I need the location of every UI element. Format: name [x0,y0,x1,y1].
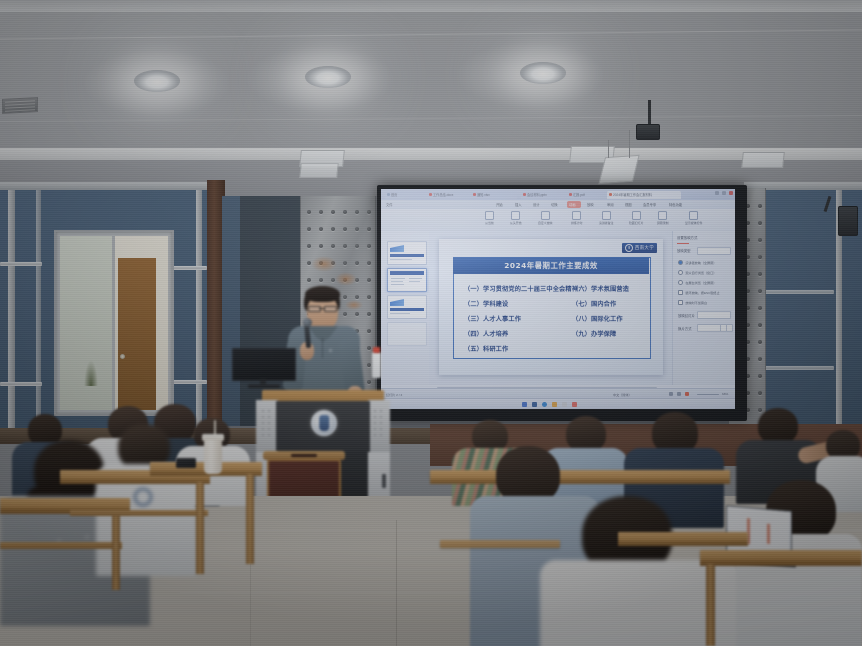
panel-stain [311,256,337,272]
option-label: 观众自行浏览（窗口） [685,270,716,275]
slide-title-text: 2024年暑期工作主要成效 [504,260,598,271]
ceiling-mount-arm [648,100,651,126]
tab-favicon-icon [569,193,572,196]
menu-item[interactable]: 会员专享 [643,202,656,207]
panel-perforation [758,221,762,225]
checkbox-icon[interactable] [678,300,683,305]
slide-item-left-4: （四）人才培养 [464,329,508,338]
tab-favicon-icon [473,193,476,196]
minimize-icon[interactable] [715,191,719,195]
chat-icon[interactable] [562,402,567,407]
task-pane-option[interactable]: 放映时不加旁白 [678,300,707,305]
tab-item[interactable]: 通知.xlsx [471,191,517,199]
task-pane-select[interactable] [697,247,731,255]
wall-divider [8,186,15,438]
paper-cup [202,434,224,474]
media-controls-icon [689,211,698,220]
ceiling-light-panel [299,163,339,178]
thumb-text-line [390,259,412,260]
panel-perforation [319,244,323,248]
menu-item[interactable]: 视图 [625,202,632,207]
current-slide[interactable]: 西南大学 2024年暑期工作主要成效 （一）学习贯彻党的二十届三中全会精神 （二… [439,239,663,375]
cup-body [204,440,222,474]
tab-label: 首页 [391,192,397,197]
laptop-highlight-cell [767,524,770,544]
ribbon-button[interactable]: 排练计时 [571,211,583,225]
window-controls[interactable] [715,191,733,195]
menu-item[interactable]: 放映 [587,202,594,207]
desk-leg [246,474,254,564]
panel-stain [335,272,357,286]
ceiling-light-panel [741,152,785,168]
presenter-shirt-placket [322,338,323,358]
task-pane-accent [677,243,689,244]
browser-icon[interactable] [542,402,547,407]
monitor-base [248,384,280,388]
panel-perforation [343,261,347,265]
thumb-graphic [390,299,404,306]
option-label: 循环放映，按ESC键终止 [685,290,719,295]
panel-perforation [367,244,371,248]
panel-perforation [331,244,335,248]
panel-perforation [758,238,762,242]
panel-perforation [758,272,762,276]
desk-surface [440,540,560,548]
slide-university-logo: 西南大学 [622,243,657,253]
desk-far-right-rear [440,540,560,600]
wall-top-trim [0,182,214,190]
desk-apron [618,541,748,546]
slide-thumbnail-selected[interactable] [387,268,427,292]
zoom-level[interactable]: 68% [722,392,728,396]
wall-chrome-strip [0,262,42,266]
downlight-far-right [520,62,566,84]
option-label: 演讲者放映（全屏幕） [685,260,716,265]
logo-text: 西南大学 [635,245,654,251]
bottle-cap [373,347,380,353]
tab-label: 工作总结.docx [433,192,453,197]
panel-perforation [319,210,323,214]
panel-perforation [319,278,323,282]
wall-divider [196,186,202,438]
confidence-monitor [232,348,298,390]
university-emblem [311,410,337,436]
interior-window [54,230,174,416]
panel-perforation [355,261,359,265]
menu-item[interactable]: 审阅 [607,202,614,207]
advance-method-input[interactable] [697,324,721,332]
desk-surface [618,532,748,541]
slide-item-left-1: （一）学习贯彻党的二十届三中全会精神 [464,284,578,293]
view-notes-icon[interactable] [677,392,681,396]
door-knob-icon [120,354,125,359]
panel-perforation [367,227,371,231]
slide-item-left-3: （三）人才人事工作 [464,314,521,323]
wall-chrome-strip [0,382,42,386]
view-normal-icon[interactable] [669,392,673,396]
tab-label: 汇报.pdf [573,192,585,197]
light-support-rod [608,140,609,158]
panel-perforation [307,278,311,282]
panel-perforation [758,323,762,327]
tab-favicon-icon [387,193,390,196]
lectern-right-speaker [368,400,390,452]
glasses-right-lens [324,306,337,312]
play-from-start-icon [511,211,520,220]
ceiling-edge-band [0,0,862,12]
downlight-right [305,66,351,88]
media-icon[interactable] [572,402,577,407]
ribbon-button[interactable]: 显示媒体控件 [685,211,702,225]
panel-perforation [331,210,335,214]
slide-thumbnail-pane[interactable] [381,231,430,385]
wall-chrome-strip [762,290,834,294]
panel-perforation [307,227,311,231]
slide-canvas[interactable]: 西南大学 2024年暑期工作主要成效 （一）学习贯彻党的二十届三中全会精神 （二… [429,231,673,385]
lectern-left-speaker [256,400,278,452]
panel-perforation [758,204,762,208]
thumb-text-line [409,281,420,282]
custom-show-icon [541,211,550,220]
zoom-slider[interactable] [697,394,719,395]
menu-item[interactable]: 特色功能 [669,202,682,207]
smartphone [176,458,196,468]
thumb-text-line [409,278,422,279]
ribbon-toolbar[interactable]: 从当前 从头开始 自定义放映 排练计时 演讲者备注 隐藏幻灯片 [381,209,735,232]
chair-handle-slot [291,454,317,457]
thumb-text-line [391,284,404,285]
panel-perforation [758,357,762,361]
thumb-title-band [390,254,424,257]
task-pane-option[interactable]: 观众自行浏览（窗口） [678,270,716,275]
thumb-text-line [391,281,403,282]
panel-perforation [307,244,311,248]
presentation-screen[interactable]: 首页 工作总结.docx 通知.xlsx 会议材料.pptx 汇报.pdf 20… [381,189,735,409]
conference-room-photo: 首页 工作总结.docx 通知.xlsx 会议材料.pptx 汇报.pdf 20… [0,0,862,646]
task-pane-option[interactable]: 循环放映，按ESC键终止 [678,290,720,295]
task-pane-option[interactable]: 在展台浏览（全屏幕） [678,280,716,285]
menu-item[interactable]: 设计 [533,202,540,207]
hide-slide-icon [632,211,641,220]
ribbon-button[interactable]: 演讲者备注 [599,211,613,225]
tab-label: 通知.xlsx [477,192,490,197]
panel-perforation [355,227,359,231]
setup-show-task-pane[interactable]: 设置放映方式 放映类型 演讲者放映（全屏幕） 观众自行浏览（窗口） 在展台浏览（… [672,231,735,385]
ribbon-button[interactable]: 从当前 [485,211,494,225]
screen-record-icon [658,211,667,220]
radio-icon[interactable] [678,270,683,275]
close-icon[interactable] [729,191,733,195]
head [758,408,798,444]
wall-chrome-strip [762,366,834,370]
thumb-text-line [391,278,405,279]
play-from-current-icon [485,211,494,220]
ribbon-button[interactable]: 从头开始 [510,211,522,225]
slide-thumbnail[interactable] [387,295,427,319]
panel-perforation [367,210,371,214]
menu-item-active[interactable]: 动画 [569,202,576,207]
radio-icon[interactable] [678,260,683,265]
panel-perforation [758,255,762,259]
monitor-screen [232,348,296,381]
floor-tile-seam [396,520,397,646]
tab-label: 会议材料.pptx [527,192,547,197]
panel-perforation [758,374,762,378]
slide-item-right-1: （六）学术氛围营造 [572,284,629,293]
stepper-down-button[interactable] [726,324,733,332]
shirt-logo-icon [328,348,333,353]
panel-perforation [367,261,371,265]
task-pane-title: 设置放映方式 [677,235,697,240]
os-taskbar[interactable] [381,398,735,409]
desk-with-cup [150,462,262,564]
panel-perforation [758,391,762,395]
slide-item-right-3: （八）国际化工作 [572,314,623,323]
ribbon-button[interactable]: 隐藏幻灯片 [629,211,643,225]
university-crest-icon [625,244,633,252]
wall-divider [36,186,41,438]
panel-perforation [758,306,762,310]
rehearse-timing-icon [572,211,581,220]
ceiling-speaker [636,124,660,140]
view-reading-icon[interactable] [685,392,689,396]
panel-perforation [758,340,762,344]
menu-item[interactable]: 插入 [515,202,522,207]
ribbon-button[interactable]: 自定义放映 [538,211,552,225]
water-bottle [372,352,381,378]
presenter-hair-top [305,286,340,302]
tab-item[interactable]: 会议材料.pptx [521,191,569,199]
panel-perforation [307,210,311,214]
panel-perforation [367,278,371,282]
desk-mid-right [618,532,748,602]
task-pane-spin-label: 换片方式 [678,326,692,331]
slide-content-box: 2024年暑期工作主要成效 （一）学习贯彻党的二十届三中全会精神 （二）学科建设… [453,257,651,359]
microphone-head-icon [303,318,312,327]
tab-item[interactable]: 工作总结.docx [427,191,473,199]
glasses-bridge [319,308,324,309]
tab-favicon-icon [609,193,612,196]
slide-thumbnail[interactable] [387,241,427,265]
panel-perforation [331,227,335,231]
panel-perforation [343,210,347,214]
light-support-rod [629,130,630,158]
thumb-title-band [390,308,424,311]
tab-favicon-icon [429,193,432,196]
option-label: 放映时不加旁白 [685,300,707,305]
tab-item[interactable]: 汇报.pdf [567,191,609,199]
slide-item-left-5: （五）科研工作 [464,344,508,353]
presentation-display: 首页 工作总结.docx 通知.xlsx 会议材料.pptx 汇报.pdf 20… [377,185,747,421]
thumb-text-line [390,313,410,314]
radio-icon[interactable] [678,280,683,285]
maximize-icon[interactable] [722,191,726,195]
tab-favicon-icon [523,193,526,196]
thumb-graphic [390,245,404,252]
language-indicator[interactable]: 中文（简体） [613,392,632,397]
ac-vent [2,97,38,114]
menu-item[interactable]: 切换 [551,202,558,207]
tab-item-active[interactable]: 2024年暑期工作会汇报材料 [607,191,681,199]
thumb-title-band [390,271,424,275]
lectern-handle-icon [382,474,386,488]
task-pane-option[interactable]: 演讲者放映（全屏幕） [678,260,716,265]
tab-label: 2024年暑期工作会汇报材料 [613,192,652,197]
option-label: 在展台浏览（全屏幕） [685,280,716,285]
panel-perforation [355,210,359,214]
presenter-notes-icon [602,211,611,220]
acoustic-wall-panel-mid [222,196,240,426]
menu-item[interactable]: 文件 [386,202,393,207]
terminal-icon[interactable] [532,402,537,407]
panel-perforation [355,244,359,248]
slide-title-bar: 2024年暑期工作主要成效 [453,257,649,274]
glasses-left-lens [308,306,321,312]
menu-item[interactable]: 开始 [496,202,503,207]
panel-perforation [343,244,347,248]
corridor-door [118,258,156,410]
downlight-left [134,70,180,92]
plant-silhouette [84,360,98,386]
task-pane-section: 放映类型 [677,248,691,253]
file-explorer-icon[interactable] [522,402,527,407]
checkbox-icon[interactable] [678,290,683,295]
notes-icon[interactable] [552,402,557,407]
ribbon-button[interactable]: 屏幕录制 [657,211,669,225]
wall-speaker-right [838,206,858,236]
panel-perforation [758,289,762,293]
slides-range-input[interactable] [697,311,731,319]
slide-item-right-4: （九）办学保障 [572,329,616,338]
panel-perforation [319,227,323,231]
panel-perforation [343,227,347,231]
task-pane-field-label: 放映幻灯片 [678,313,695,318]
slide-item-left-2: （二）学科建设 [464,299,508,308]
slide-thumbnail[interactable] [387,322,427,346]
slide-item-right-2: （七）国内合作 [572,299,616,308]
tab-item[interactable]: 首页 [385,191,429,199]
